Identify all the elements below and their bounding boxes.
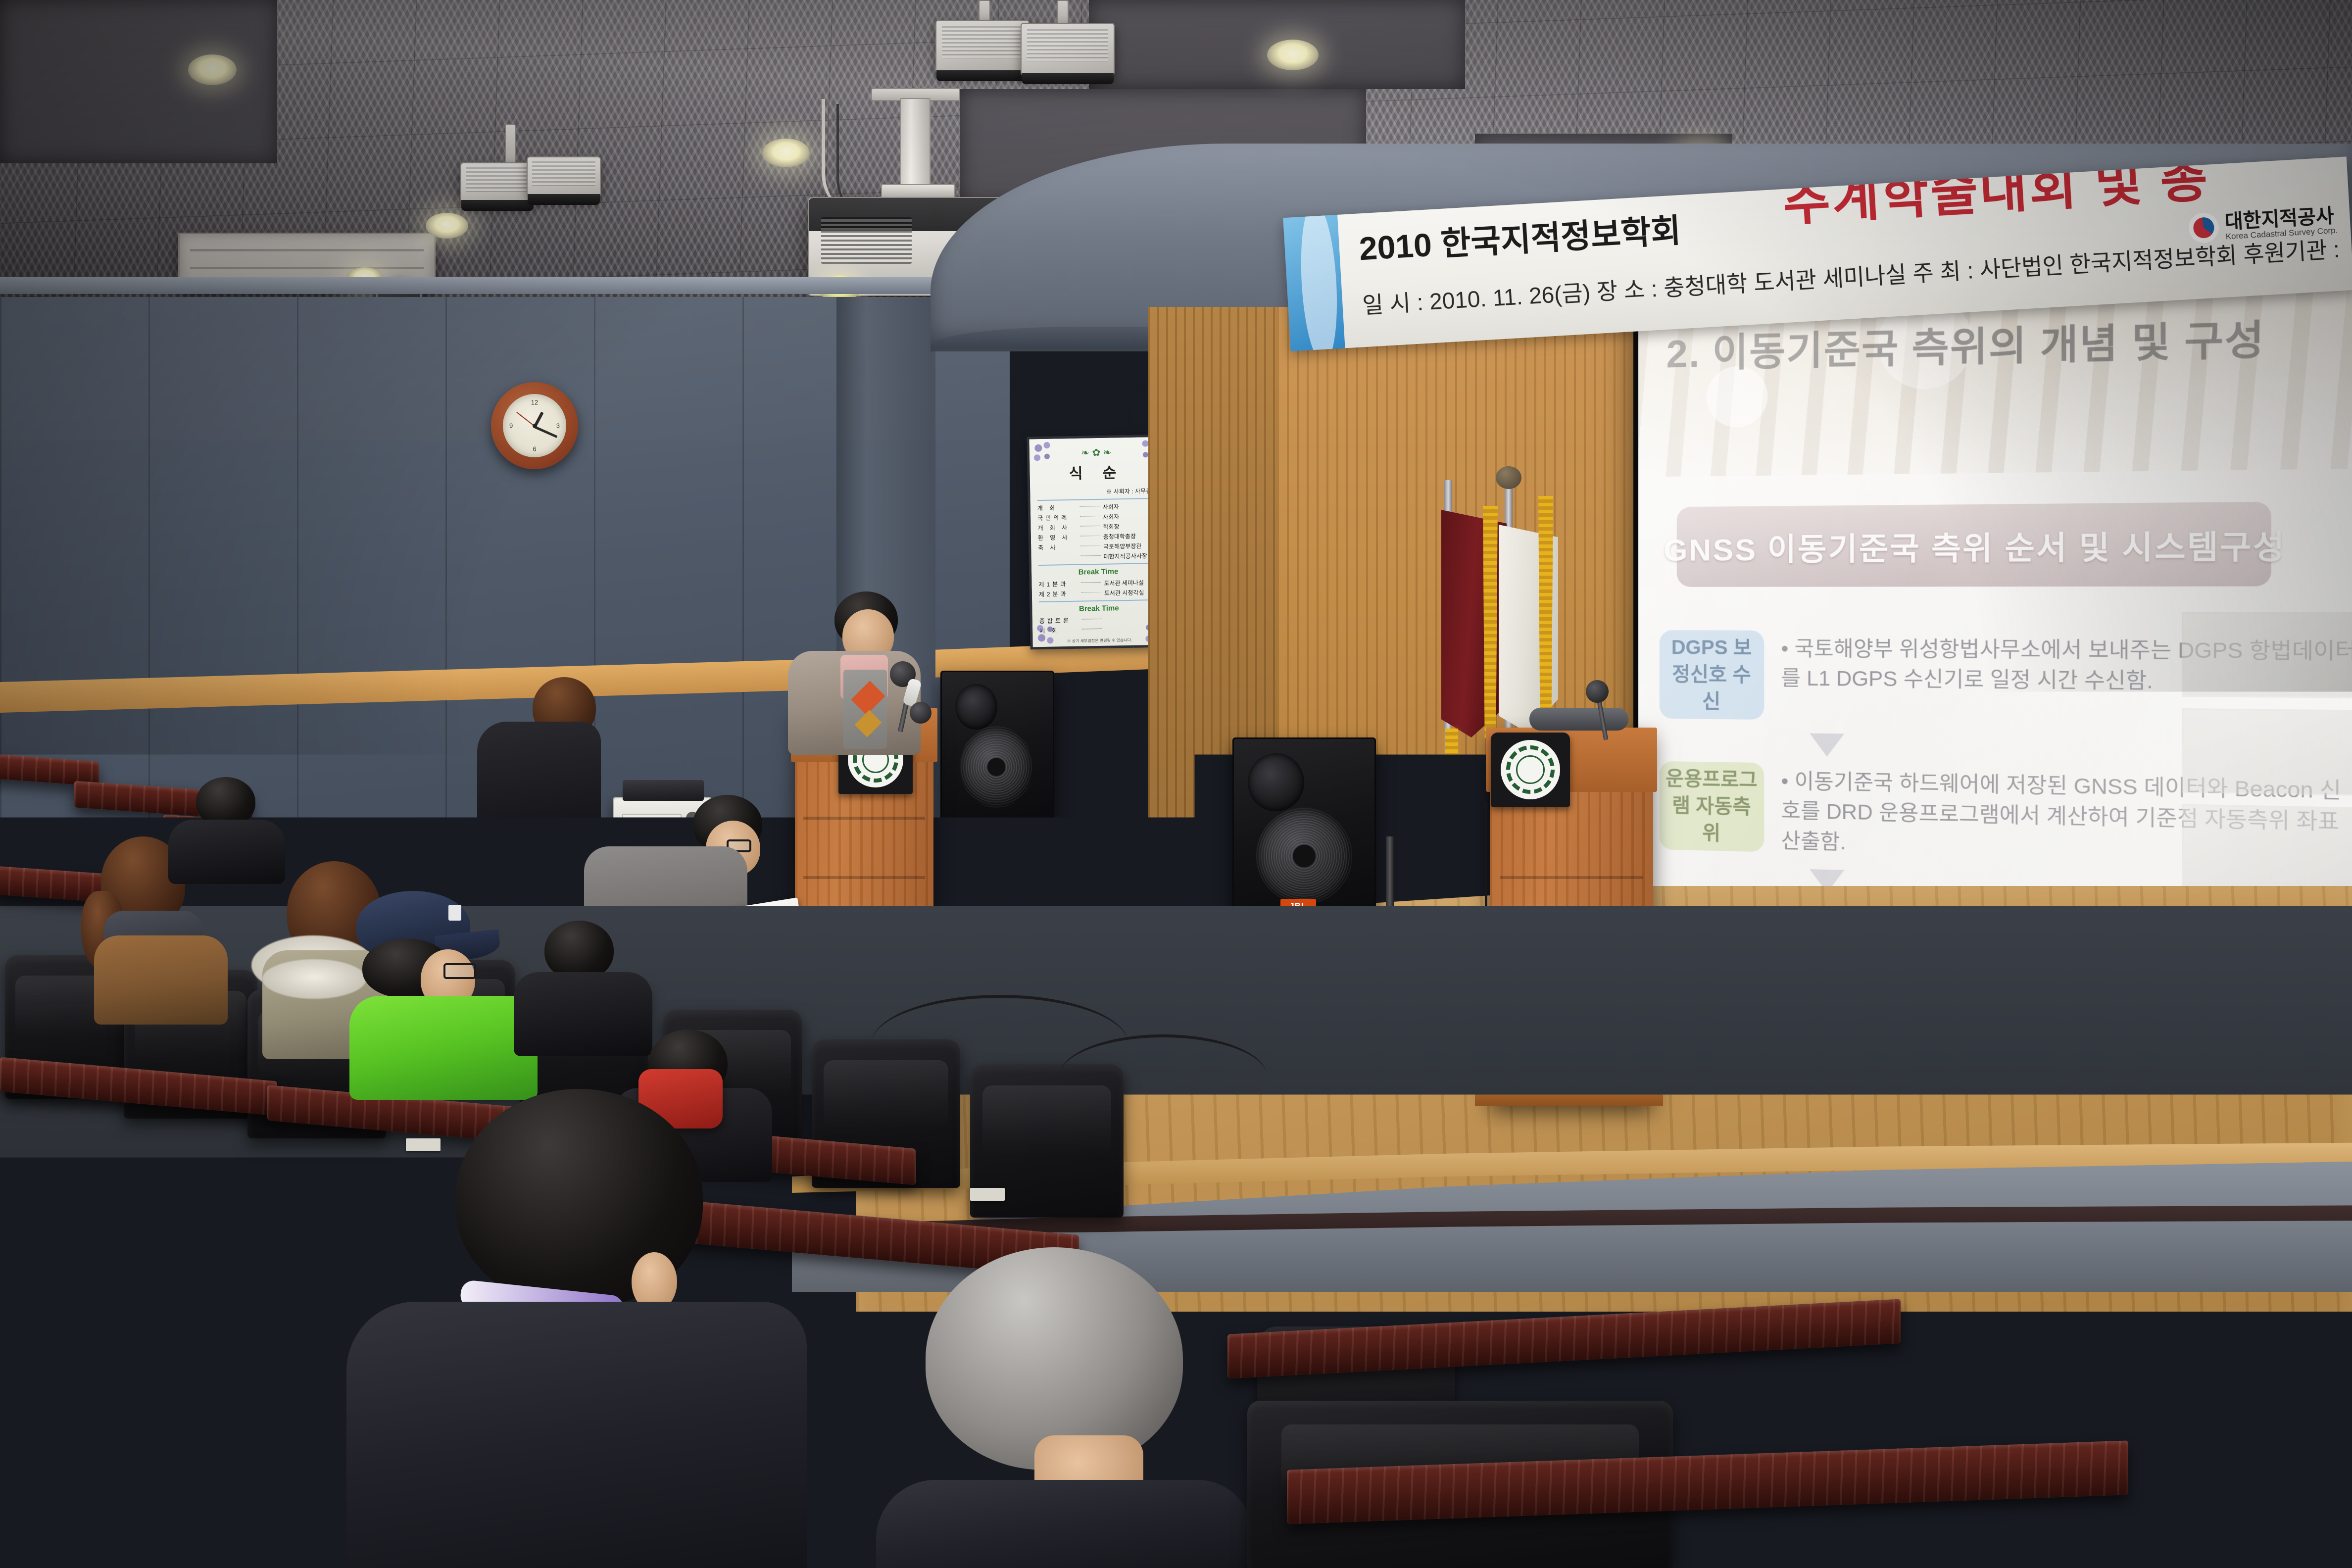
cable-adapter xyxy=(1445,1109,1505,1133)
poster-row-leader xyxy=(1082,618,1102,619)
poster-row: 제2분과도서관 시청각실 xyxy=(1039,588,1159,598)
poster-row-leader xyxy=(1082,628,1102,629)
poster-row-item xyxy=(1038,557,1078,557)
poster-break-label: Break Time xyxy=(1038,567,1158,577)
speaker-woofer xyxy=(1256,807,1352,905)
clock-second-hand xyxy=(516,412,535,427)
poster-row-leader xyxy=(1080,505,1100,506)
floor-cable xyxy=(1059,1034,1267,1119)
ceiling-downlight xyxy=(762,139,810,167)
projection-screen: 2. 이동기준국 측위의 개념 및 구성 GNSS 이동기준국 측위 순서 및 … xyxy=(1633,254,2352,944)
poster-row-item: 축 사 xyxy=(1038,543,1078,552)
wall-ledge xyxy=(0,277,1010,294)
seat-armrest xyxy=(0,1366,173,1455)
slide-step-chip: DGPS 보정신호 수신 xyxy=(1659,630,1764,720)
ceiling-downlight xyxy=(1267,40,1319,70)
slide-thumbnail xyxy=(2182,612,2352,698)
clock-numeral: 9 xyxy=(509,422,513,430)
poster-row-leader xyxy=(1080,545,1100,546)
audience-hair xyxy=(196,777,255,827)
foreground-man-suit xyxy=(346,1302,807,1568)
clock-numeral: 3 xyxy=(556,422,560,430)
poster-row: 국민의례사회자 xyxy=(1037,512,1157,522)
flag-fringe xyxy=(1483,506,1498,738)
college-emblem: 井 CHUNG CHEONG COLLEGE 충청대학 xyxy=(1501,740,1560,799)
spotlight-head xyxy=(935,20,1029,74)
slide-thumbnail-column xyxy=(2182,612,2352,894)
poster-row-leader xyxy=(1080,535,1100,536)
speaker-tweeter xyxy=(955,684,997,729)
person-grayhair-foreground xyxy=(871,1247,1257,1568)
emblem-glyph: 井 xyxy=(867,751,884,768)
poster-row-item: 개 회 xyxy=(1037,503,1077,512)
poster-row: 축 사국토해양부장관 xyxy=(1038,541,1158,552)
seat-number-tag xyxy=(970,1188,1005,1201)
program-order-poster: ❧ ✿ ❧ 식 순 ※ 사회자 : 사무총장 개 회사회자국민의례사회자개 회 … xyxy=(1027,435,1169,650)
slide-step-chip: 운용프로그램 자동측위 xyxy=(1659,761,1764,851)
slide-thumbnail xyxy=(2182,708,2352,796)
lectern-reading-light xyxy=(1529,708,1628,731)
poster-mc-line: ※ 사회자 : 사무총장 xyxy=(1037,487,1157,497)
lectern-emblem-plate: 井 CHUNG CHEONG COLLEGE 충청대학 xyxy=(1491,733,1570,807)
person-man-foreground xyxy=(317,1089,812,1568)
poster-row-item: 개 회 사 xyxy=(1037,523,1077,532)
poster-row-leader xyxy=(1081,591,1101,592)
clock-numeral: 12 xyxy=(531,398,538,406)
person-audience-silhouette xyxy=(163,777,292,876)
speaker-tweeter xyxy=(1248,753,1304,811)
flag-tassel xyxy=(1445,729,1458,783)
stage-spotlight-cluster xyxy=(931,0,1148,124)
flagpole-finial xyxy=(1496,466,1521,489)
spotlight-head xyxy=(460,162,535,204)
clock-minute-hand xyxy=(534,426,558,438)
ceiling-tile-dark xyxy=(0,0,277,163)
auditorium-photograph: 12 3 6 9 ❧ ✿ ❧ 식 순 ※ 사회자 : 사무총장 개 회사회자국민… xyxy=(0,0,2352,1568)
poster-section-ceremony: 개 회사회자국민의례사회자개 회 사학회장환 영 사충청대학총장축 사국토해양부… xyxy=(1037,502,1158,562)
projected-slide: 2. 이동기준국 측위의 개념 및 구성 GNSS 이동기준국 측위 순서 및 … xyxy=(1638,258,2352,914)
poster-row-item: 국민의례 xyxy=(1037,513,1077,522)
cap-logo xyxy=(448,905,461,921)
poster-row: 개 회사회자 xyxy=(1037,502,1157,512)
speaker-stand xyxy=(1386,836,1394,916)
pa-speaker: JBL xyxy=(1232,737,1376,921)
microphone-head xyxy=(1586,680,1609,703)
clock-center-pin xyxy=(533,424,537,428)
spotlight-head xyxy=(527,156,601,198)
slide-section-band: GNSS 이동기준국 측위 순서 및 시스템구성 xyxy=(1677,502,2271,587)
spotlight-head xyxy=(1021,23,1115,77)
ceiling-downlight xyxy=(188,54,237,85)
poster-row-leader xyxy=(1080,555,1100,556)
poster-break-label: Break Time xyxy=(1039,603,1159,614)
poster-row-item: 제2분과 xyxy=(1039,589,1078,598)
banner-blue-bar xyxy=(1283,215,1345,351)
emblem-caption-en: CHUNG CHEONG COLLEGE xyxy=(1501,787,1560,791)
slide-down-arrow-icon xyxy=(1810,733,1844,757)
stage-spotlight-cluster xyxy=(460,124,619,223)
audience-coat xyxy=(168,820,285,884)
audience-hair xyxy=(544,921,614,980)
poster-row: 제1분과도서관 세미나실 xyxy=(1038,578,1158,588)
slide-section-label: GNSS 이동기준국 측위 순서 및 시스템구성 xyxy=(1664,520,2286,569)
poster-row-leader xyxy=(1080,525,1100,526)
brown-coat xyxy=(94,935,228,1025)
poster-section-sessions: 제1분과도서관 세미나실제2분과도서관 시청각실 xyxy=(1038,578,1159,598)
poster-row: 대한지적공사사장 xyxy=(1038,551,1158,562)
flag-fringe xyxy=(1538,496,1553,729)
poster-row-item: 제1분과 xyxy=(1038,580,1078,588)
sponsor-logo-mark xyxy=(2188,211,2220,244)
poster-row: 개 회 사학회장 xyxy=(1037,522,1157,532)
poster-row-item: 환 영 사 xyxy=(1038,533,1078,542)
poster-row-leader xyxy=(1081,582,1101,583)
poster-row: 환 영 사충청대학총장 xyxy=(1038,532,1158,542)
microphone-head xyxy=(910,702,931,724)
grayhair-jacket xyxy=(876,1480,1252,1568)
emblem-glyph: 井 xyxy=(1521,761,1539,779)
wall-clock: 12 3 6 9 xyxy=(491,382,578,469)
wall-power-outlet xyxy=(1456,1153,1482,1195)
speaker-woofer xyxy=(960,726,1033,807)
power-cable xyxy=(1208,1153,1371,1223)
slide-thumbnail xyxy=(2182,804,2352,894)
poster-row-leader xyxy=(1080,515,1100,516)
green-puffer-jacket xyxy=(349,996,538,1100)
clock-numeral: 6 xyxy=(533,445,536,453)
emblem-caption-ko: 충청대학 xyxy=(1501,749,1560,755)
eyeglasses-icon xyxy=(443,963,476,979)
banner-title: 2010 한국지적정보학회 xyxy=(1358,204,1682,270)
pa-speaker xyxy=(940,671,1054,824)
